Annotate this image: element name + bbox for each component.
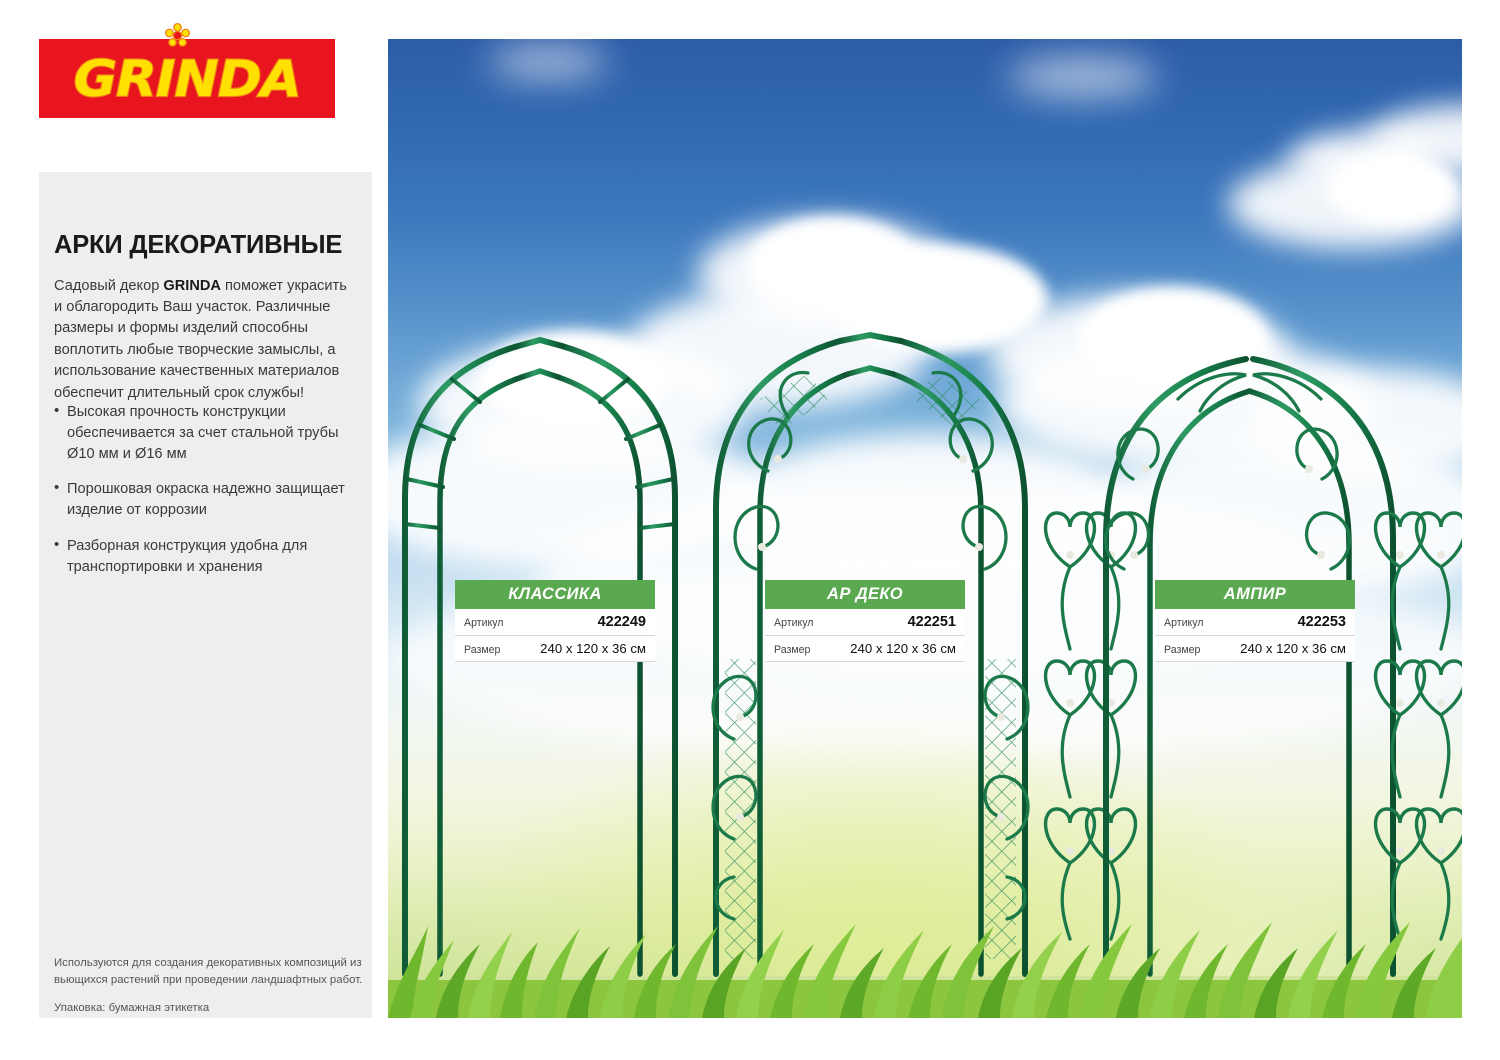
size-value: 240 x 120 x 36 см	[540, 641, 646, 656]
footnote: Используются для создания декоративных к…	[54, 955, 364, 1017]
product-card-classic[interactable]: КЛАССИКА Артикул 422249 Размер 240 x 120…	[455, 580, 655, 662]
product-article-row: Артикул 422253	[1155, 609, 1355, 636]
product-name: АР ДЕКО	[827, 585, 903, 604]
product-name-header: КЛАССИКА	[455, 580, 655, 609]
arch-empire	[1106, 359, 1393, 974]
size-value: 240 x 120 x 36 см	[850, 641, 956, 656]
flower-icon	[165, 23, 190, 48]
list-item: Разборная конструкция удобна для транспо…	[54, 536, 354, 578]
article-label: Артикул	[774, 617, 814, 629]
product-name: АМПИР	[1224, 585, 1286, 604]
product-size-row: Размер 240 x 120 x 36 см	[1155, 636, 1355, 662]
feature-list: Высокая прочность конструкции обеспечива…	[54, 402, 354, 593]
article-label: Артикул	[1164, 617, 1204, 629]
product-photo: КЛАССИКА Артикул 422249 Размер 240 x 120…	[388, 39, 1462, 1018]
product-size-row: Размер 240 x 120 x 36 см	[455, 636, 655, 662]
article-value: 422253	[1298, 614, 1346, 630]
product-name: КЛАССИКА	[508, 585, 602, 604]
grass-foreground	[388, 918, 1462, 1018]
size-label: Размер	[1164, 644, 1200, 656]
footnote-packaging: Упаковка: бумажная этикетка	[54, 1000, 364, 1017]
product-article-row: Артикул 422249	[455, 609, 655, 636]
brand-logo: GRINDA	[39, 39, 335, 118]
list-item: Высокая прочность конструкции обеспечива…	[54, 402, 354, 464]
list-item: Порошковая окраска надежно защищает изде…	[54, 479, 354, 521]
size-label: Размер	[464, 644, 500, 656]
page-title: АРКИ ДЕКОРАТИВНЫЕ	[54, 231, 364, 260]
product-card-artdeco[interactable]: АР ДЕКО Артикул 422251 Размер 240 x 120 …	[765, 580, 965, 662]
article-value: 422249	[598, 614, 646, 630]
size-label: Размер	[774, 644, 810, 656]
trellis-panel-left	[1046, 479, 1136, 984]
product-article-row: Артикул 422251	[765, 609, 965, 636]
article-label: Артикул	[464, 617, 504, 629]
footnote-usage: Используются для создания декоративных к…	[54, 955, 364, 988]
intro-text-after: поможет украсить и облагородить Ваш учас…	[54, 278, 347, 401]
product-card-empire[interactable]: АМПИР Артикул 422253 Размер 240 x 120 x …	[1155, 580, 1355, 662]
product-name-header: АР ДЕКО	[765, 580, 965, 609]
arch-illustrations	[388, 39, 1462, 1018]
intro-paragraph: Садовый декор GRINDA поможет украсить и …	[54, 276, 351, 404]
product-name-header: АМПИР	[1155, 580, 1355, 609]
size-value: 240 x 120 x 36 см	[1240, 641, 1346, 656]
brand-wordmark: GRINDA	[73, 54, 300, 104]
article-value: 422251	[908, 614, 956, 630]
product-size-row: Размер 240 x 120 x 36 см	[765, 636, 965, 662]
intro-brand: GRINDA	[163, 278, 221, 294]
trellis-panel-right	[1376, 479, 1462, 984]
intro-text-before: Садовый декор	[54, 278, 163, 294]
